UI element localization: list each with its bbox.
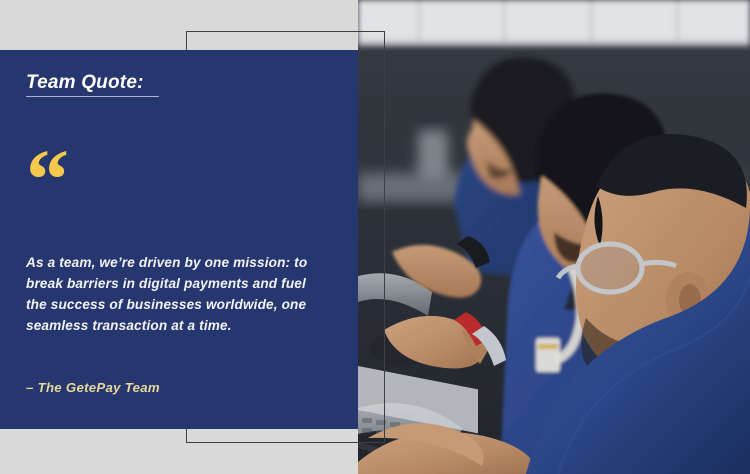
team-photo-illustration	[358, 0, 750, 474]
title-underline	[26, 96, 159, 97]
quote-attribution: – The GetePay Team	[26, 380, 160, 395]
quote-card-graphic: Team Quote: “ As a team, we’re driven by…	[0, 0, 750, 474]
quote-body-text: As a team, we’re driven by one mission: …	[26, 252, 316, 336]
page-title: Team Quote:	[26, 72, 144, 94]
quote-card: Team Quote: “ As a team, we’re driven by…	[0, 50, 358, 429]
quotation-mark-icon: “	[26, 136, 68, 196]
team-photo	[358, 0, 750, 474]
